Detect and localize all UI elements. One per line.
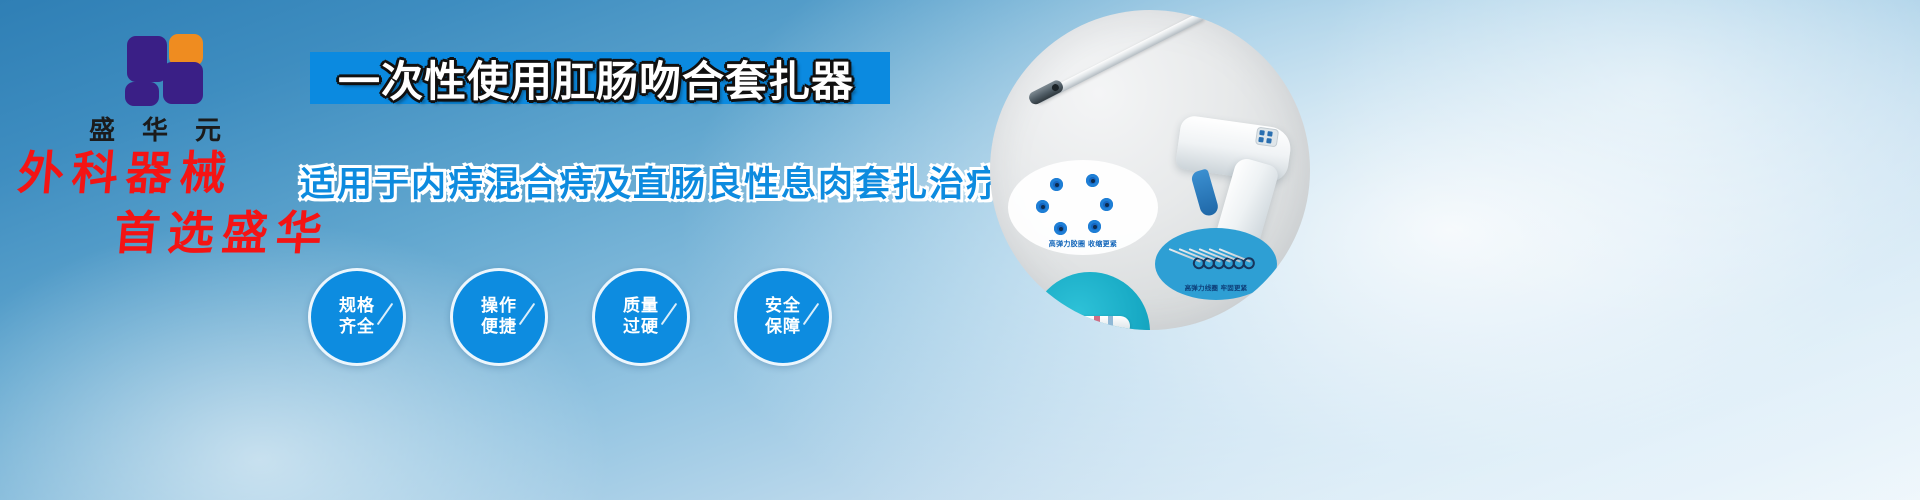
feature-badge-quality[interactable]: 质量 过硬 — [592, 268, 690, 366]
slash-decor-icon — [519, 303, 536, 325]
callout-loop-needles: 高弹力线圈 牢固更紧 — [1155, 228, 1277, 300]
feature-badge-list: 规格 齐全 操作 便捷 质量 过硬 安全 保障 — [308, 268, 832, 366]
feature-badge-line-1: 安全 — [765, 296, 801, 317]
slash-decor-icon — [803, 303, 820, 325]
callout-needles-caption: 高弹力线圈 牢固更紧 — [1155, 282, 1277, 292]
feature-badge-specifications[interactable]: 规格 齐全 — [308, 268, 406, 366]
brand-logo[interactable]: 盛 华 元 — [60, 28, 250, 147]
feature-badge-line-1: 质量 — [623, 296, 659, 317]
brand-name: 盛 华 元 — [60, 110, 250, 147]
device-trigger — [1190, 168, 1220, 217]
device-button-pad — [1255, 127, 1279, 148]
feature-badge-line-2: 保障 — [765, 317, 801, 338]
product-photo: 高弹力胶圈 收缩更紧 高弹力线圈 牢固更紧 — [990, 10, 1310, 330]
elastic-ring-icon — [1050, 178, 1063, 191]
feature-badge-line-1: 操作 — [481, 296, 517, 317]
feature-badge-safety[interactable]: 安全 保障 — [734, 268, 832, 366]
elastic-ring-icon — [1036, 200, 1049, 213]
callout-rings-caption: 高弹力胶圈 收缩更紧 — [1008, 239, 1158, 249]
slash-decor-icon — [377, 303, 394, 325]
elastic-ring-icon — [1100, 198, 1113, 211]
device-tip — [1027, 78, 1065, 106]
elastic-ring-icon — [1054, 222, 1067, 235]
elastic-ring-icon — [1086, 174, 1099, 187]
callout-elastic-rings: 高弹力胶圈 收缩更紧 — [1008, 160, 1158, 255]
background-glow-top-right — [1300, 0, 1920, 340]
promo-banner: 盛 华 元 外科器械 首选盛华 一次性使用肛肠吻合套扎器 适用于内痔混合痔及直肠… — [0, 0, 1920, 500]
feature-badge-line-1: 规格 — [339, 296, 375, 317]
page-title: 一次性使用肛肠吻合套扎器 — [338, 50, 958, 106]
calligraphy-line-1: 外科器械 — [16, 150, 236, 196]
feature-badge-line-2: 齐全 — [339, 317, 375, 338]
calligraphy-line-2: 首选盛华 — [112, 210, 332, 256]
elastic-ring-icon — [1088, 220, 1101, 233]
slash-decor-icon — [661, 303, 678, 325]
feature-badge-operation[interactable]: 操作 便捷 — [450, 268, 548, 366]
page-subtitle: 适用于内痔混合痔及直肠良性息肉套扎治疗 — [300, 156, 1003, 207]
cartridge-icon — [1050, 316, 1130, 330]
logo-blocks-icon — [111, 28, 199, 104]
feature-badge-line-2: 过硬 — [623, 317, 659, 338]
feature-badge-line-2: 便捷 — [481, 317, 517, 338]
